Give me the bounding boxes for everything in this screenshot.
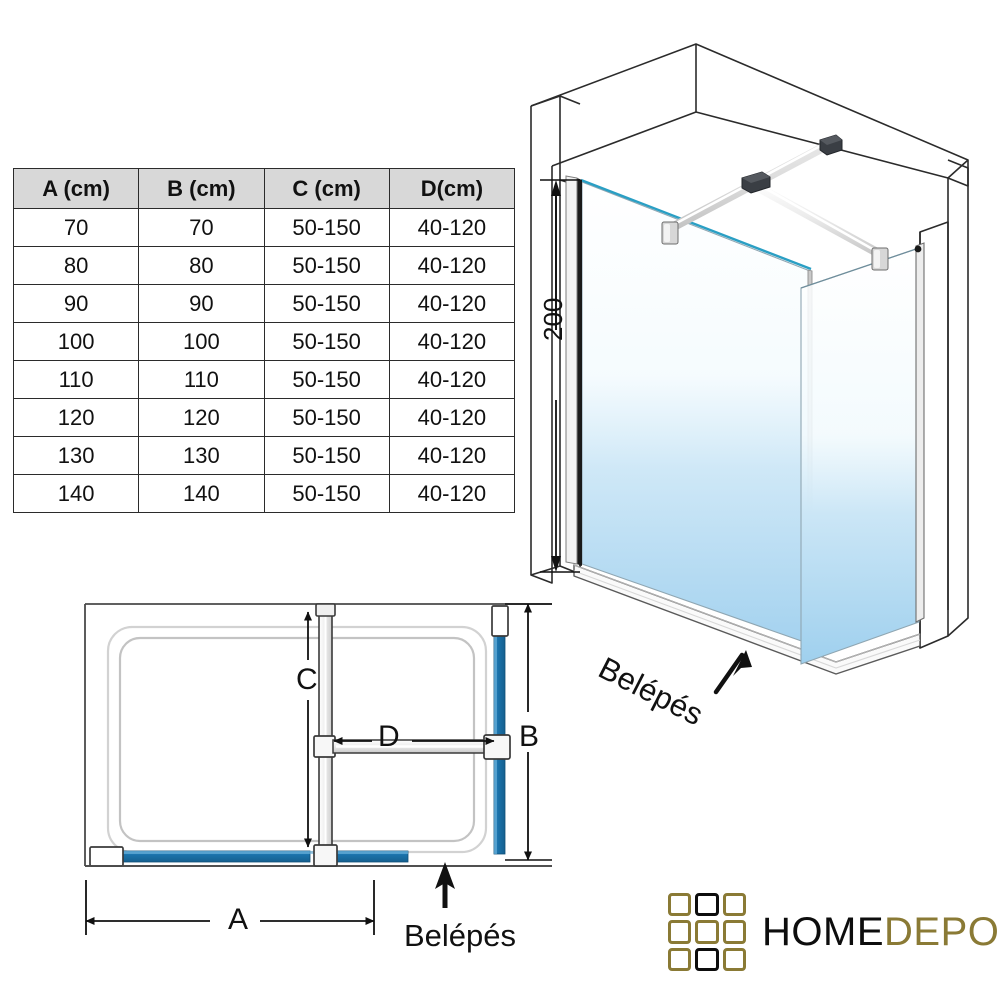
- logo-text-depo: DEPO: [884, 910, 999, 954]
- table-row: 70 70 50-150 40-120: [14, 209, 515, 247]
- column-header-d: D(cm): [389, 169, 514, 209]
- dimension-label-c: C: [296, 665, 318, 695]
- table-row: 120 120 50-150 40-120: [14, 399, 515, 437]
- column-header-c: C (cm): [264, 169, 389, 209]
- cell-a: 130: [14, 437, 139, 475]
- height-dimension-label: 200: [540, 298, 566, 341]
- logo-cell: [723, 893, 746, 916]
- cell-c: 50-150: [264, 323, 389, 361]
- logo-text-home: HOME: [762, 910, 884, 954]
- cell-a: 70: [14, 209, 139, 247]
- dimension-label-a: A: [228, 905, 248, 935]
- cell-b: 90: [139, 285, 264, 323]
- logo-cell-dark: [695, 893, 718, 916]
- cell-b: 110: [139, 361, 264, 399]
- column-header-a: A (cm): [14, 169, 139, 209]
- logo-cell: [668, 948, 691, 971]
- table-row: 130 130 50-150 40-120: [14, 437, 515, 475]
- cell-a: 100: [14, 323, 139, 361]
- cell-d: 40-120: [389, 323, 514, 361]
- plan-support-post: [314, 604, 337, 866]
- entry-arrow-plan: [435, 862, 455, 908]
- cell-b: 70: [139, 209, 264, 247]
- cell-d: 40-120: [389, 209, 514, 247]
- cell-b: 130: [139, 437, 264, 475]
- table-row: 80 80 50-150 40-120: [14, 247, 515, 285]
- cell-a: 140: [14, 475, 139, 513]
- logo-cell: [723, 920, 746, 943]
- plan-support-bar: [333, 735, 510, 759]
- cell-a: 120: [14, 399, 139, 437]
- cell-d: 40-120: [389, 361, 514, 399]
- cell-c: 50-150: [264, 209, 389, 247]
- cell-c: 50-150: [264, 399, 389, 437]
- table-row: 140 140 50-150 40-120: [14, 475, 515, 513]
- homedepo-logo: HOMEDEPO: [668, 886, 988, 978]
- cell-c: 50-150: [264, 247, 389, 285]
- cell-d: 40-120: [389, 437, 514, 475]
- table-row: 90 90 50-150 40-120: [14, 285, 515, 323]
- cell-d: 40-120: [389, 285, 514, 323]
- column-header-b: B (cm): [139, 169, 264, 209]
- size-options-table: A (cm) B (cm) C (cm) D(cm) 70 70 50-150 …: [13, 168, 515, 513]
- cell-b: 120: [139, 399, 264, 437]
- table-row: 110 110 50-150 40-120: [14, 361, 515, 399]
- logo-cell: [668, 920, 691, 943]
- cell-c: 50-150: [264, 437, 389, 475]
- dimension-label-b: B: [519, 722, 539, 752]
- cell-d: 40-120: [389, 399, 514, 437]
- cell-a: 80: [14, 247, 139, 285]
- cell-a: 90: [14, 285, 139, 323]
- cell-c: 50-150: [264, 285, 389, 323]
- logo-cell: [695, 920, 718, 943]
- cell-b: 140: [139, 475, 264, 513]
- cell-c: 50-150: [264, 475, 389, 513]
- cell-d: 40-120: [389, 475, 514, 513]
- logo-cell: [668, 893, 691, 916]
- logo-grid-icon: [668, 893, 746, 971]
- dimension-label-d: D: [378, 722, 400, 752]
- cell-a: 110: [14, 361, 139, 399]
- logo-cell-dark: [695, 948, 718, 971]
- logo-cell: [723, 948, 746, 971]
- table-row: 100 100 50-150 40-120: [14, 323, 515, 361]
- table-header-row: A (cm) B (cm) C (cm) D(cm): [14, 169, 515, 209]
- cell-b: 80: [139, 247, 264, 285]
- cell-d: 40-120: [389, 247, 514, 285]
- entry-label-plan: Belépés: [404, 920, 516, 951]
- drawing-page: A (cm) B (cm) C (cm) D(cm) 70 70 50-150 …: [0, 0, 1000, 1000]
- logo-wordmark: HOMEDEPO: [762, 912, 999, 952]
- cell-b: 100: [139, 323, 264, 361]
- cell-c: 50-150: [264, 361, 389, 399]
